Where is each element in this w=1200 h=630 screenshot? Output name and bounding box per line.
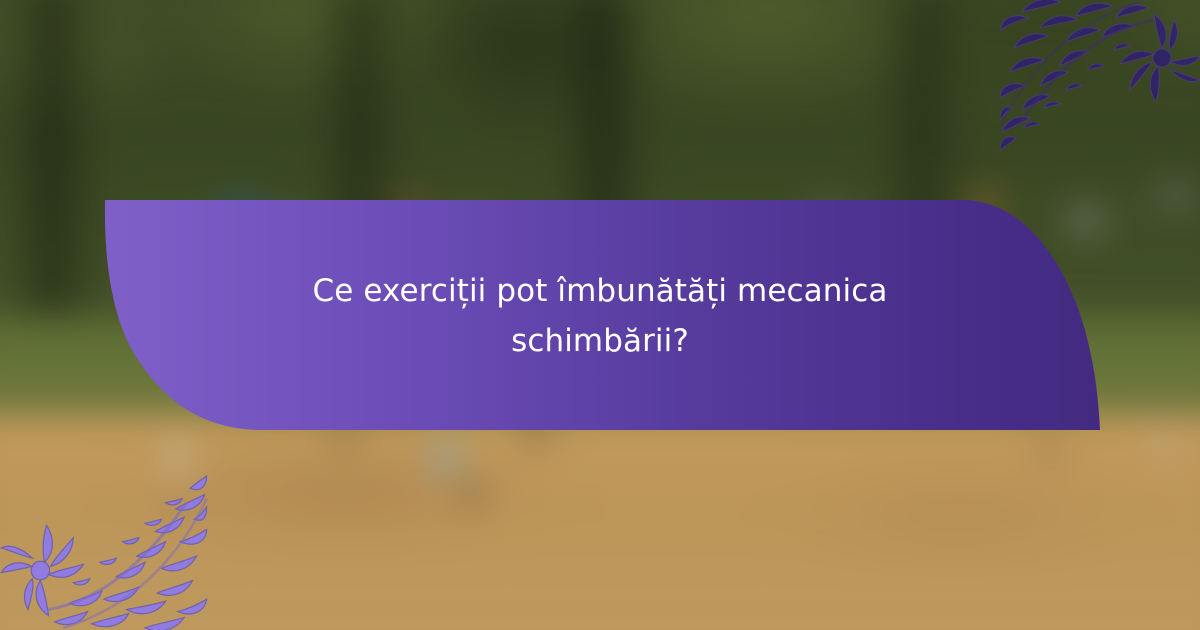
page-title: Ce exerciții pot îmbunătăți mecanica sch…	[260, 266, 940, 366]
ornament-corner-top-right	[1000, 0, 1200, 152]
floral-damask-corner-icon	[1000, 0, 1200, 152]
headline-banner-text-wrap: Ce exerciții pot îmbunătăți mecanica sch…	[150, 198, 1050, 434]
floral-damask-corner-icon	[0, 474, 208, 630]
share-card-canvas: Ce exerciții pot îmbunătăți mecanica sch…	[0, 0, 1200, 630]
ornament-corner-bottom-left	[0, 474, 208, 630]
